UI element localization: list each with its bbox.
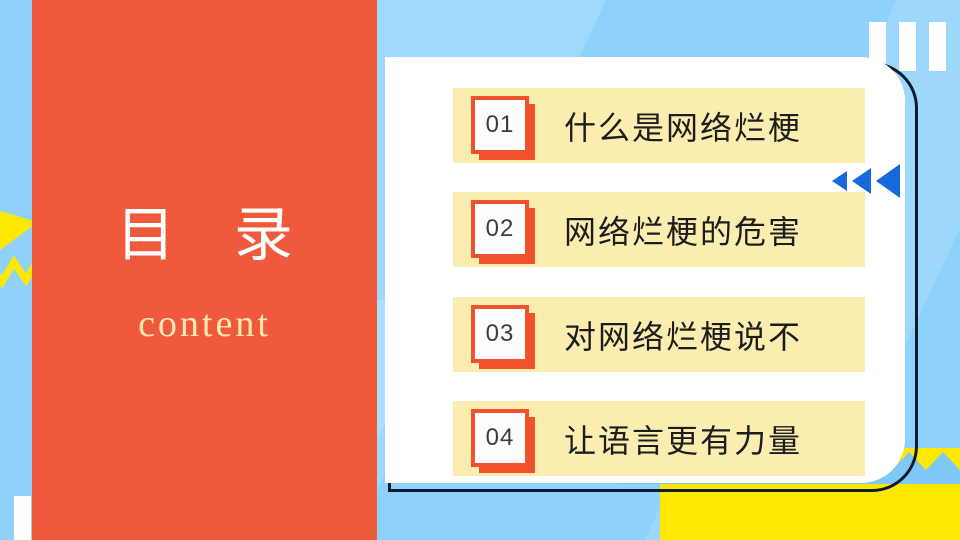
toc-item-label: 什么是网络烂梗 bbox=[564, 103, 802, 149]
toc-item-label: 网络烂梗的危害 bbox=[564, 207, 802, 253]
toc-item-number: 01 bbox=[471, 96, 529, 154]
toc-item-label: 让语言更有力量 bbox=[564, 416, 802, 462]
toc-item-label: 对网络烂梗说不 bbox=[564, 312, 802, 358]
page-subtitle: content bbox=[32, 305, 377, 343]
number-badge: 01 bbox=[471, 96, 531, 156]
toc-item-number: 04 bbox=[471, 409, 529, 467]
left-arrow-group bbox=[832, 164, 900, 198]
arrow-left-icon-large bbox=[876, 164, 900, 198]
toc-item-number: 02 bbox=[471, 200, 529, 258]
list-item[interactable]: 02 网络烂梗的危害 bbox=[453, 192, 865, 267]
number-badge: 04 bbox=[471, 409, 531, 469]
arrow-left-icon-small bbox=[832, 171, 847, 191]
white-bar-bottom-left bbox=[14, 496, 31, 540]
white-bar-3 bbox=[929, 22, 946, 71]
white-bar-2 bbox=[899, 22, 916, 71]
toc-item-number: 03 bbox=[471, 305, 529, 363]
title-panel bbox=[32, 0, 377, 540]
toc-list: 01 什么是网络烂梗 02 网络烂梗的危害 03 对网络烂梗说不 04 让语言更… bbox=[453, 57, 865, 483]
slide-canvas: 01 什么是网络烂梗 02 网络烂梗的危害 03 对网络烂梗说不 04 让语言更… bbox=[0, 0, 960, 540]
number-badge: 03 bbox=[471, 305, 531, 365]
page-title: 目 录 bbox=[32, 206, 377, 265]
list-item[interactable]: 01 什么是网络烂梗 bbox=[453, 88, 865, 163]
list-item[interactable]: 03 对网络烂梗说不 bbox=[453, 297, 865, 372]
arrow-left-icon-medium bbox=[852, 168, 871, 194]
number-badge: 02 bbox=[471, 200, 531, 260]
list-item[interactable]: 04 让语言更有力量 bbox=[453, 401, 865, 476]
